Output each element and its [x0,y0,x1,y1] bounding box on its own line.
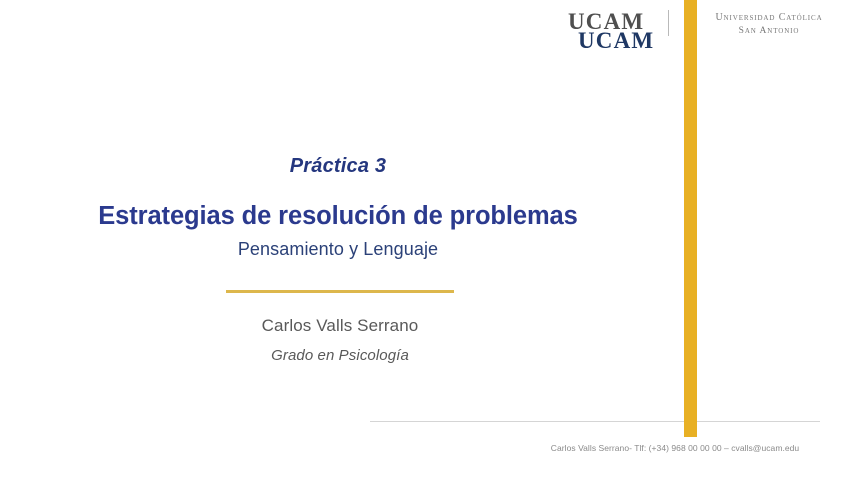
ucam-logo: UCAM UCAM Universidad Católica San Anton… [560,6,848,58]
tagline-line-1: Universidad Católica [715,12,822,23]
author-name: Carlos Valls Serrano [0,316,680,336]
footer-contact-text: Carlos Valls Serrano- Tlf: (+34) 968 00 … [520,443,830,453]
tagline-line-2: San Antonio [684,25,848,38]
slide-main-title: Estrategias de resolución de problemas [0,202,676,231]
logo-divider-line [668,10,669,36]
yellow-accent-bar [684,0,697,437]
ucam-wordmark-blue: UCAM [578,29,654,52]
title-block: Práctica 3 Estrategias de resolución de … [0,155,676,261]
footer-divider-rule [370,421,820,422]
presentation-slide: UCAM UCAM Universidad Católica San Anton… [0,0,848,477]
practice-label: Práctica 3 [0,155,676,177]
gold-divider-rule [226,290,454,293]
author-degree: Grado en Psicología [0,347,680,365]
slide-subtitle: Pensamiento y Lenguaje [0,239,676,261]
author-block: Carlos Valls Serrano Grado en Psicología [0,316,680,365]
ucam-tagline: Universidad Católica San Antonio [684,11,848,37]
